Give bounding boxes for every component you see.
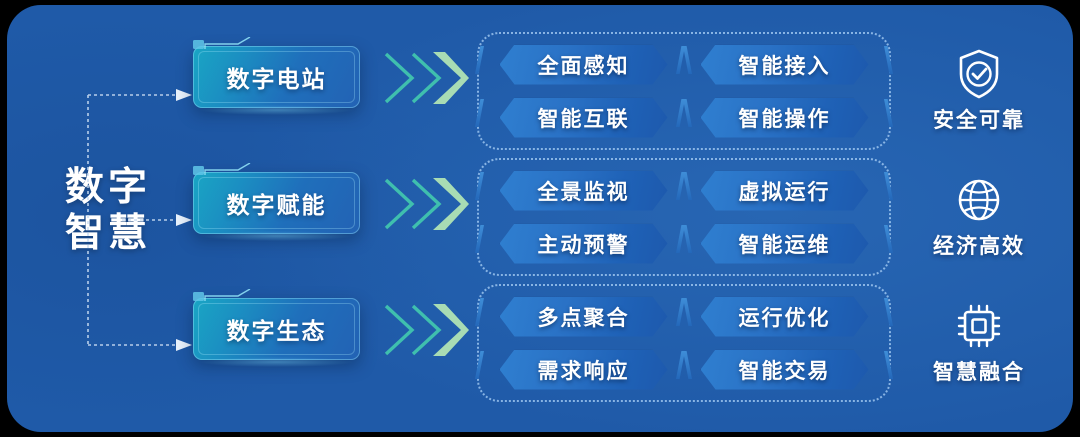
double-chevron-right-icon [383, 50, 469, 106]
capability-pill[interactable]: 智能运维 [701, 224, 869, 264]
capability-pill-label: 全景监视 [538, 176, 630, 206]
capability-cell: 虚拟运行 [690, 166, 879, 215]
pill-sliver-left [475, 99, 484, 127]
capability-group: 多点聚合 运行优化 需求响应 [477, 284, 891, 402]
feature-label: 智慧融合 [905, 356, 1053, 386]
capability-pill[interactable]: 全景监视 [500, 171, 668, 211]
double-chevron-right-icon [383, 176, 469, 232]
pill-sliver-right [884, 351, 893, 379]
stage-card[interactable]: 数字赋能 [193, 172, 360, 234]
capability-group: 全景监视 虚拟运行 主动预警 [477, 158, 891, 276]
stage-card-label: 数字赋能 [193, 172, 360, 234]
capability-cell: 主动预警 [489, 219, 678, 268]
capability-pill-label: 虚拟运行 [739, 176, 831, 206]
capability-cell: 需求响应 [489, 345, 678, 394]
capability-cell: 智能接入 [690, 40, 879, 89]
capability-pill-label: 智能运维 [739, 229, 831, 259]
capability-pill-label: 全面感知 [538, 50, 630, 80]
stage-card[interactable]: 数字生态 [193, 298, 360, 360]
feature-label: 安全可靠 [905, 104, 1053, 134]
shield-check-icon [905, 46, 1053, 102]
pill-sliver-left [475, 46, 484, 74]
capability-pill[interactable]: 智能交易 [701, 350, 869, 390]
capability-pill-label: 智能互联 [538, 103, 630, 133]
capability-grid: 多点聚合 运行优化 需求响应 [489, 292, 879, 394]
capability-cell: 智能互联 [489, 93, 678, 142]
capability-cell: 全景监视 [489, 166, 678, 215]
feature-item: 智慧融合 [905, 298, 1053, 386]
card-glow [199, 357, 354, 367]
capability-grid: 全景监视 虚拟运行 主动预警 [489, 166, 879, 268]
capability-cell: 运行优化 [690, 292, 879, 341]
capability-pill-label: 智能交易 [739, 355, 831, 385]
capability-pill[interactable]: 多点聚合 [500, 297, 668, 337]
pill-sliver-left [475, 172, 484, 200]
stage-card-label: 数字电站 [193, 46, 360, 108]
capability-pill[interactable]: 智能互联 [500, 98, 668, 138]
capability-pill[interactable]: 需求响应 [500, 350, 668, 390]
capability-pill[interactable]: 智能接入 [701, 45, 869, 85]
pill-sliver-right [884, 99, 893, 127]
pill-sliver-left [475, 351, 484, 379]
capability-grid: 全面感知 智能接入 智能互联 [489, 40, 879, 142]
capability-pill-label: 多点聚合 [538, 302, 630, 332]
pill-sliver-right [884, 225, 893, 253]
capability-pill[interactable]: 全面感知 [500, 45, 668, 85]
cpu-chip-icon [905, 298, 1053, 354]
capability-pill-label: 智能操作 [739, 103, 831, 133]
card-glow [199, 105, 354, 115]
feature-label: 经济高效 [905, 230, 1053, 260]
pill-sliver-left [475, 225, 484, 253]
pill-sliver-left [475, 298, 484, 326]
feature-item: 经济高效 [905, 172, 1053, 260]
feature-item: 安全可靠 [905, 46, 1053, 134]
capability-cell: 全面感知 [489, 40, 678, 89]
stage-card-label: 数字生态 [193, 298, 360, 360]
capability-pill-label: 需求响应 [538, 355, 630, 385]
pill-sliver-right [884, 46, 893, 74]
capability-cell: 智能运维 [690, 219, 879, 268]
card-glow [199, 231, 354, 241]
pill-sliver-right [884, 298, 893, 326]
capability-cell: 智能交易 [690, 345, 879, 394]
capability-pill-label: 智能接入 [739, 50, 831, 80]
double-chevron-right-icon [383, 302, 469, 358]
capability-group: 全面感知 智能接入 智能互联 [477, 32, 891, 150]
capability-pill[interactable]: 虚拟运行 [701, 171, 869, 211]
capability-pill-label: 主动预警 [538, 229, 630, 259]
capability-cell: 智能操作 [690, 93, 879, 142]
capability-cell: 多点聚合 [489, 292, 678, 341]
stage-card[interactable]: 数字电站 [193, 46, 360, 108]
capability-pill-label: 运行优化 [739, 302, 831, 332]
globe-icon [905, 172, 1053, 228]
capability-pill[interactable]: 运行优化 [701, 297, 869, 337]
capability-pill[interactable]: 主动预警 [500, 224, 668, 264]
capability-pill[interactable]: 智能操作 [701, 98, 869, 138]
pill-sliver-right [884, 172, 893, 200]
diagram-canvas: 数字 智慧 数字电站 [0, 0, 1080, 437]
